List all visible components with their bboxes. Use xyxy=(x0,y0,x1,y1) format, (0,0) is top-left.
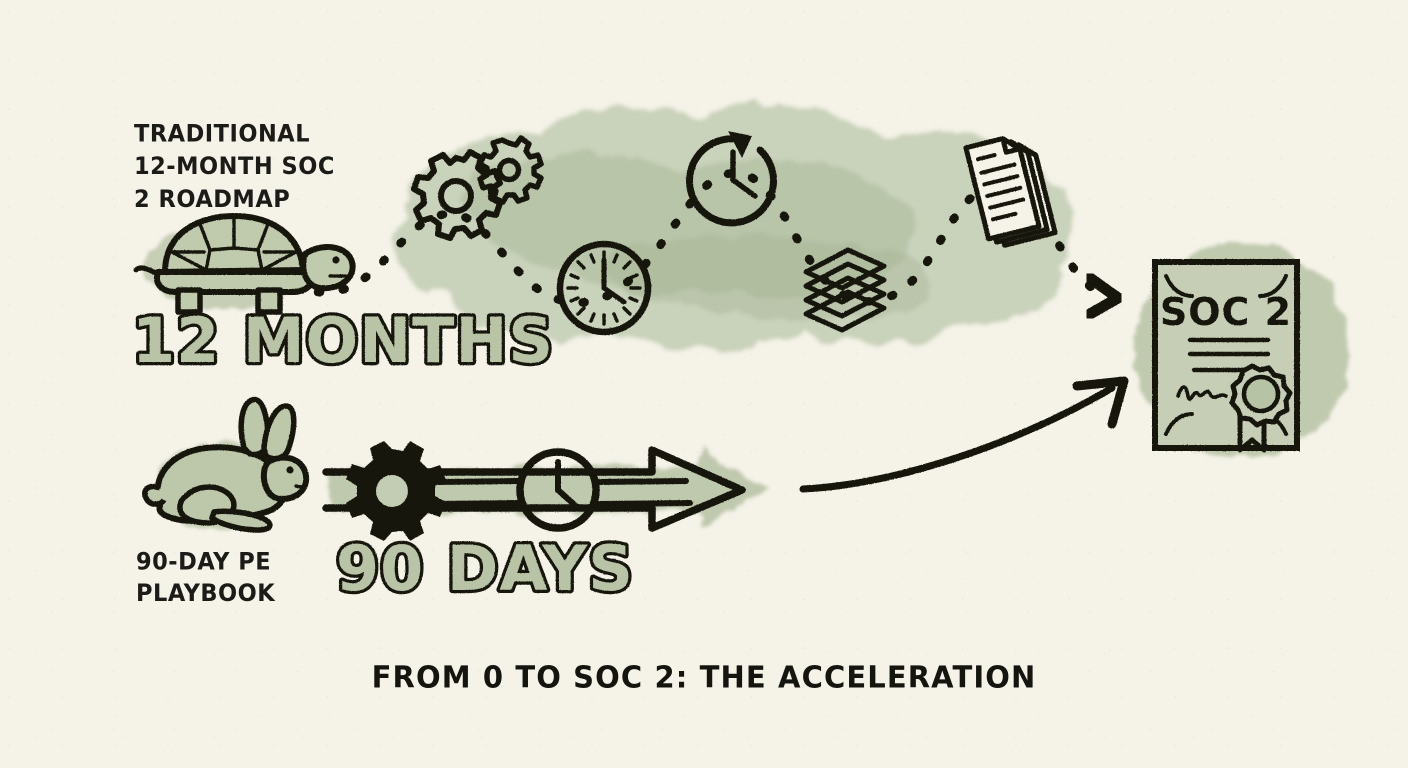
illustration: 12 MONTHS xyxy=(0,0,1408,768)
svg-text:90 DAYS: 90 DAYS xyxy=(336,532,634,605)
infographic-canvas: 12 MONTHS xyxy=(0,0,1408,768)
slow-track-label: TRADITIONAL 12-MONTH SOC 2 ROADMAP xyxy=(134,118,335,217)
fast-track-label: 90-DAY PE PLAYBOOK xyxy=(136,546,275,610)
svg-text:SOC 2: SOC 2 xyxy=(1160,290,1292,334)
acceleration-arrow xyxy=(803,381,1124,489)
gear-solid-icon xyxy=(346,441,446,541)
rabbit-icon xyxy=(145,399,307,530)
slow-duration-text: 12 MONTHS xyxy=(132,304,554,377)
svg-text:12 MONTHS: 12 MONTHS xyxy=(132,304,554,377)
caption: FROM 0 TO SOC 2: THE ACCELERATION xyxy=(0,659,1408,695)
soc2-certificate: SOC 2 xyxy=(1155,262,1297,450)
wall-clock-icon xyxy=(560,244,648,332)
fast-duration-text: 90 DAYS xyxy=(336,532,634,605)
